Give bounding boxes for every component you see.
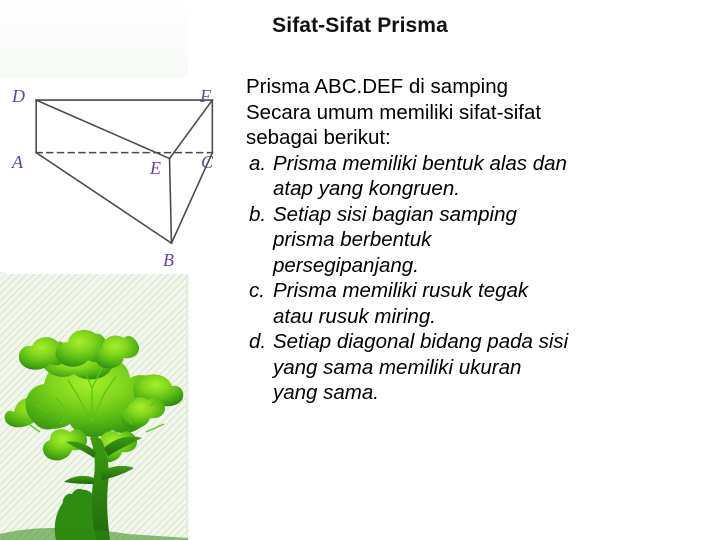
list-item: b. Setiap sisi bagian samping prisma ber…	[246, 202, 716, 279]
list-line: persegipanjang.	[273, 253, 716, 279]
list-line: atau rusuk miring.	[273, 304, 716, 330]
vertex-label-D: D	[12, 86, 25, 107]
list-item: c. Prisma memiliki rusuk tegak atau rusu…	[246, 278, 716, 329]
vertex-label-A: A	[12, 152, 23, 173]
list-line: yang sama.	[273, 380, 716, 406]
list-item: d. Setiap diagonal bidang pada sisi yang…	[246, 329, 716, 406]
prism-diagram	[6, 78, 225, 274]
list-marker: a.	[249, 151, 266, 177]
decorative-striped-panel	[0, 272, 188, 540]
list-line: Setiap sisi bagian samping	[273, 202, 716, 228]
intro-paragraph: Prisma ABC.DEF di samping Secara umum me…	[246, 74, 716, 151]
vertex-label-E: E	[150, 158, 161, 179]
vertex-label-C: C	[201, 152, 213, 173]
list-marker: c.	[249, 278, 265, 304]
prism-diagram-svg	[6, 78, 225, 274]
decorative-striped-panel-edge	[186, 272, 190, 540]
list-item-text: Prisma memiliki rusuk tegak atau rusuk m…	[273, 278, 716, 329]
edge-DE	[36, 100, 169, 158]
list-item-text: Setiap sisi bagian samping prisma berben…	[273, 202, 716, 279]
list-line: yang sama memiliki ukuran	[273, 355, 716, 381]
edge-EB	[170, 158, 172, 243]
edge-FE	[170, 100, 213, 158]
decorative-top-panel	[0, 0, 188, 78]
intro-line-1: Prisma ABC.DEF di samping	[246, 74, 716, 100]
vertex-label-F: F	[200, 86, 211, 107]
list-line: atap yang kongruen.	[273, 176, 716, 202]
list-line: Prisma memiliki rusuk tegak	[273, 278, 716, 304]
content-column: Prisma ABC.DEF di samping Secara umum me…	[246, 74, 716, 406]
page-title: Sifat-Sifat Prisma	[0, 14, 720, 38]
intro-line-3: sebagai berikut:	[246, 125, 716, 151]
list-item: a. Prisma memiliki bentuk alas dan atap …	[246, 151, 716, 202]
slide-canvas: D F A E C B	[0, 0, 720, 540]
list-marker: b.	[249, 202, 266, 228]
intro-line-2: Secara umum memiliki sifat-sifat	[246, 100, 716, 126]
list-line: Setiap diagonal bidang pada sisi	[273, 329, 716, 355]
vertex-label-B: B	[163, 250, 174, 271]
properties-list: a. Prisma memiliki bentuk alas dan atap …	[246, 151, 716, 406]
list-marker: d.	[249, 329, 266, 355]
list-line: Prisma memiliki bentuk alas dan	[273, 151, 716, 177]
list-item-text: Prisma memiliki bentuk alas dan atap yan…	[273, 151, 716, 202]
list-line: prisma berbentuk	[273, 227, 716, 253]
list-item-text: Setiap diagonal bidang pada sisi yang sa…	[273, 329, 716, 406]
